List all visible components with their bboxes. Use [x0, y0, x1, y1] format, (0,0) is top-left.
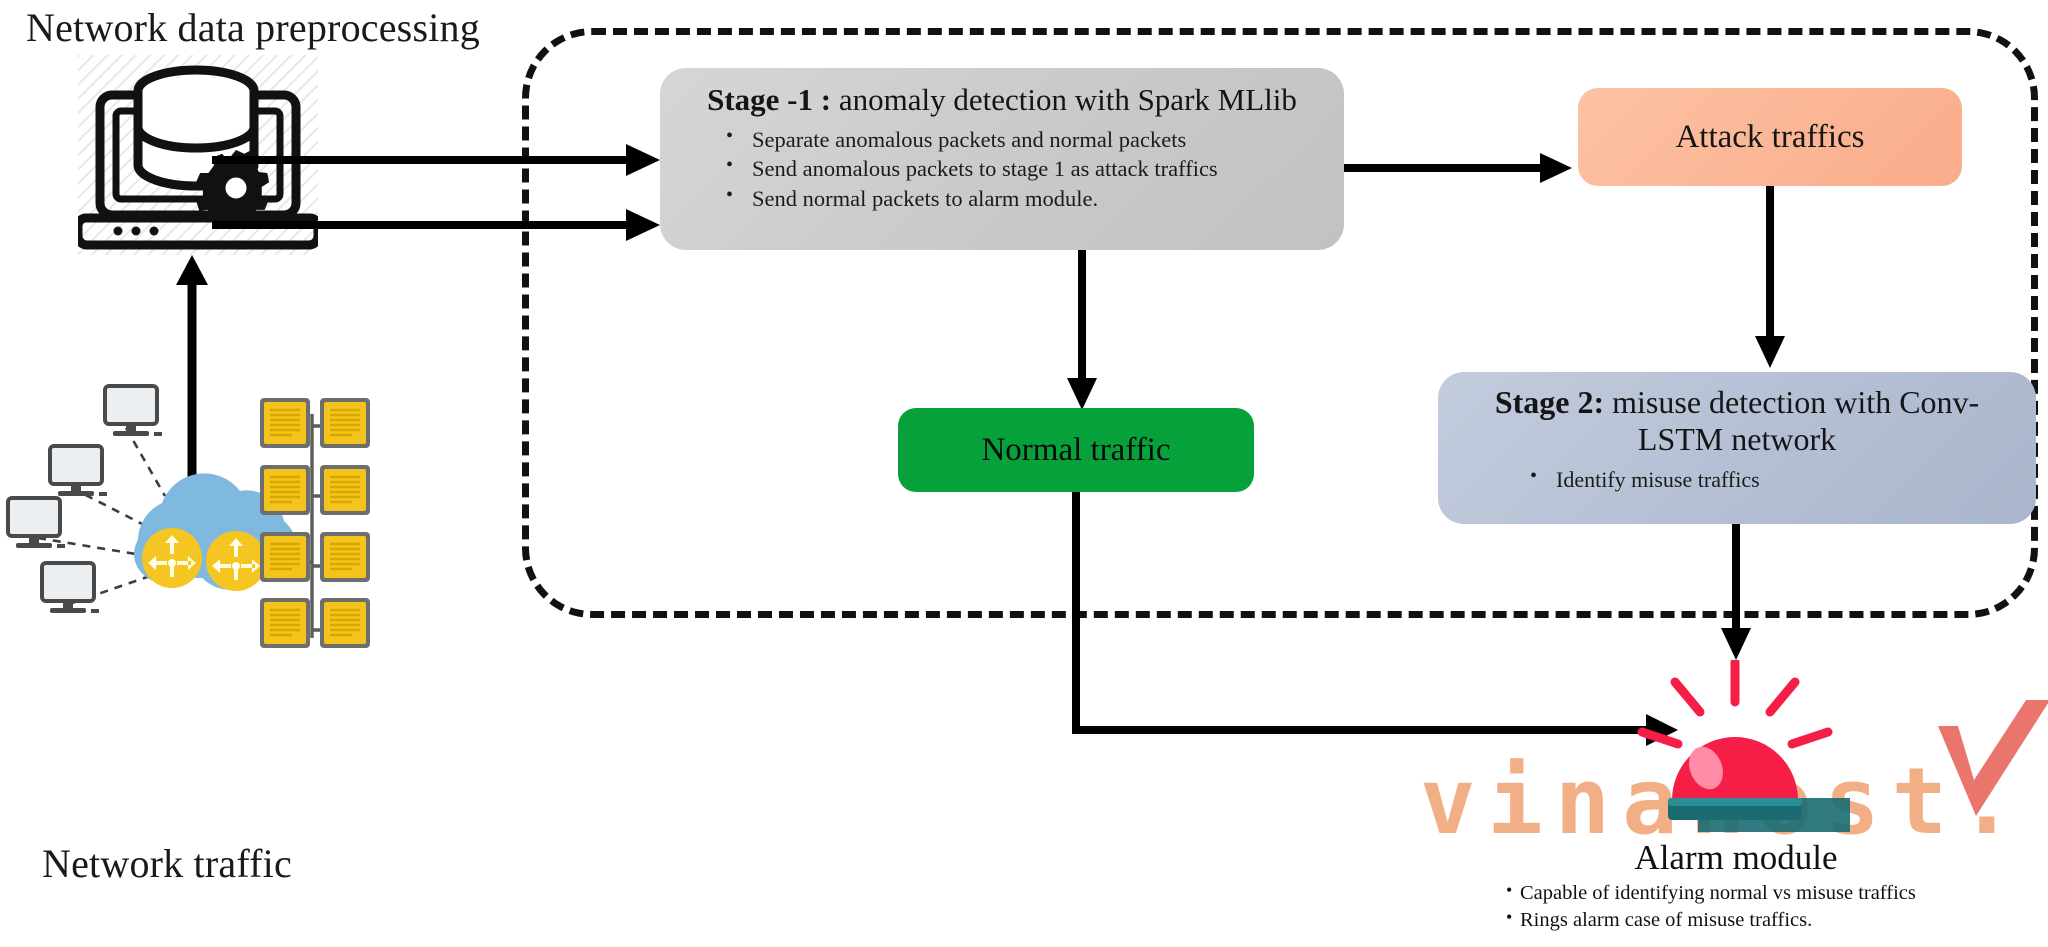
attack-traffics-box[interactable]: Attack traffics — [1578, 88, 1962, 186]
alarm-module-title: Alarm module — [1436, 838, 2036, 878]
alarm-light-icon — [1620, 660, 1850, 840]
stage2-title-bold: Stage 2: — [1495, 384, 1604, 420]
arrow-stage1-to-normal — [1060, 250, 1104, 412]
server-tiles-group — [258, 398, 388, 648]
list-item: Separate anomalous packets and normal pa… — [722, 126, 1218, 155]
alarm-bullet-list: Capable of identifying normal vs misuse … — [1506, 880, 2036, 933]
arrow-stage1-to-attack — [1344, 148, 1574, 188]
arrow-stage2-to-alarm — [1714, 524, 1758, 662]
arrow-attack-to-stage2 — [1748, 186, 1792, 370]
stage1-title: Stage -1 : anomaly detection with Spark … — [687, 82, 1316, 118]
normal-traffic-label: Normal traffic — [981, 432, 1170, 469]
arrow-normal-to-alarm — [1050, 492, 1700, 782]
stage2-bullet-list: Identify misuse traffics — [1438, 466, 1760, 495]
stage1-title-bold: Stage -1 : — [707, 82, 831, 117]
diagram-canvas: Network data preprocessing — [0, 0, 2048, 947]
stage1-bullet-list: Separate anomalous packets and normal pa… — [660, 126, 1218, 215]
arrow-preprocessing-to-stage1-bottom — [212, 205, 662, 245]
stage2-title-rest: misuse detection with Conv-LSTM network — [1604, 384, 1979, 457]
list-item: Identify misuse traffics — [1526, 466, 1760, 494]
attack-traffics-label: Attack traffics — [1675, 119, 1864, 156]
stage1-box[interactable]: Stage -1 : anomaly detection with Spark … — [660, 68, 1344, 250]
preprocessing-label: Network data preprocessing — [26, 4, 480, 51]
list-item: Send anomalous packets to stage 1 as att… — [722, 155, 1218, 184]
stage2-title: Stage 2: misuse detection with Conv-LSTM… — [1462, 384, 2012, 458]
arrow-preprocessing-to-stage1-top — [212, 140, 662, 180]
stage1-title-rest: anomaly detection with Spark MLlib — [831, 82, 1297, 117]
alarm-module-caption: Alarm module Capable of identifying norm… — [1436, 838, 2036, 933]
normal-traffic-box[interactable]: Normal traffic — [898, 408, 1254, 492]
list-item: Rings alarm case of misuse traffics. — [1506, 907, 2036, 934]
vinahost-check-icon — [1930, 700, 2048, 840]
network-traffic-label: Network traffic — [42, 840, 292, 887]
list-item: Capable of identifying normal vs misuse … — [1506, 880, 2036, 907]
list-item: Send normal packets to alarm module. — [722, 185, 1218, 214]
